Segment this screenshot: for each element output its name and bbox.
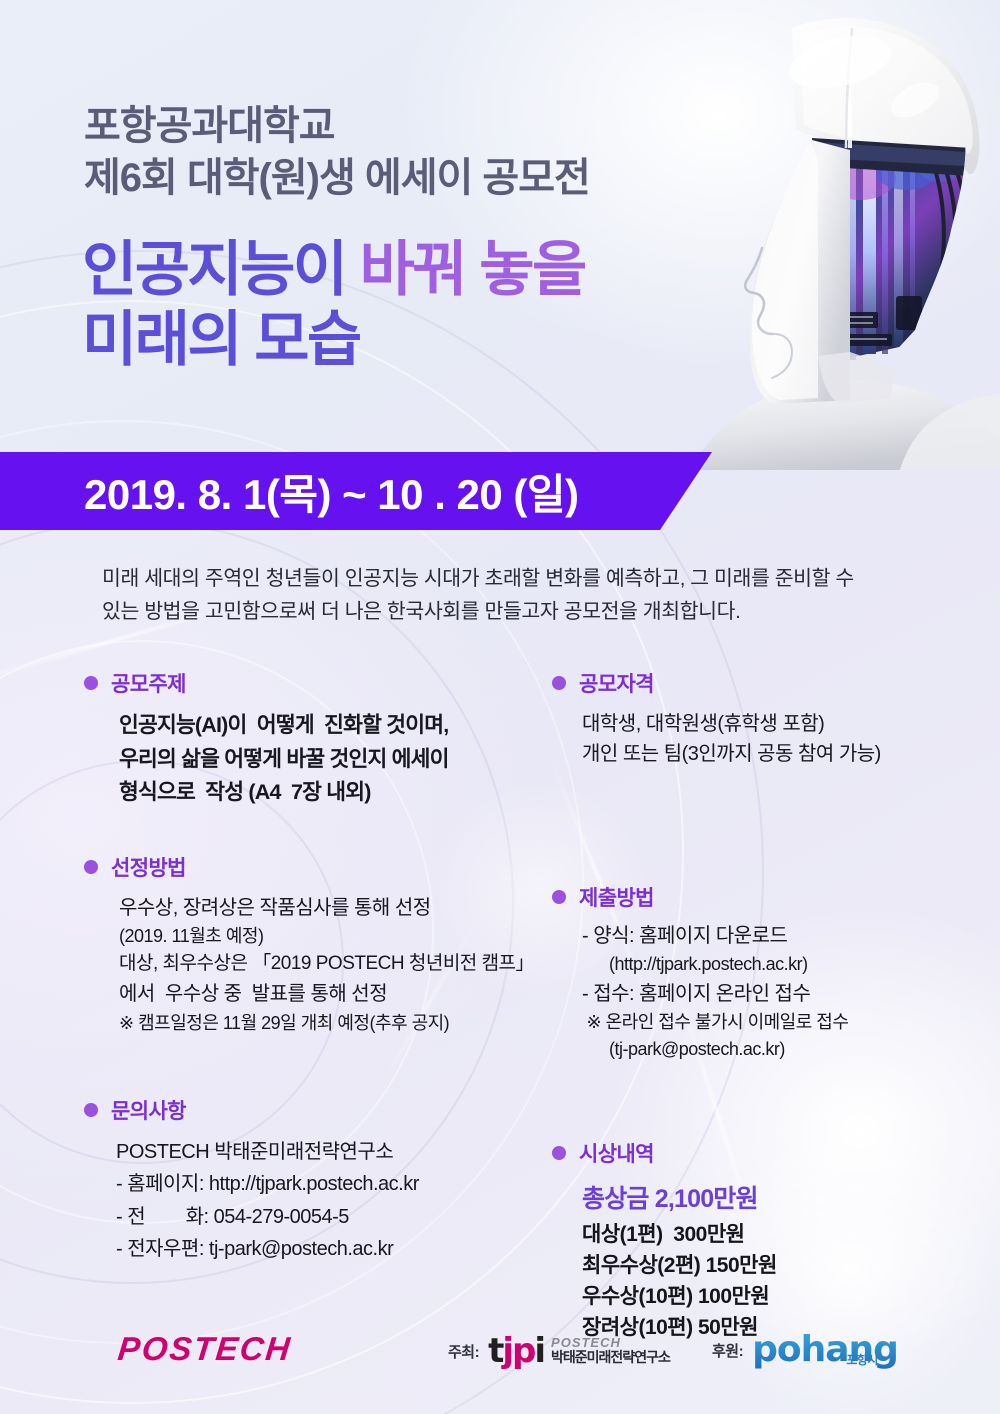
- section-topic-body: 인공지능(AI)이 어떻게 진화할 것이며, 우리의 삶을 어떻게 바꿀 것인지…: [84, 709, 524, 810]
- tjpi-letter-j: j: [502, 1331, 512, 1371]
- tjpi-letter-p: p: [512, 1331, 534, 1371]
- section-topic-header: 공모주제: [84, 668, 524, 698]
- section-inquiry-header: 문의사항: [84, 1095, 524, 1125]
- text-line: POSTECH 박태준미래전략연구소: [116, 1136, 524, 1168]
- section-selection: 선정방법 우수상, 장려상은 작품심사를 통해 선정 (2019. 11월초 예…: [84, 852, 524, 1037]
- section-prizes-heading: 시상내역: [579, 1138, 654, 1168]
- bullet-dot-icon: [84, 676, 98, 690]
- text-line: 대상, 최우수상은 「2019 POSTECH 청년비전 캠프」: [119, 950, 524, 979]
- section-prizes-header: 시상내역: [552, 1138, 982, 1168]
- section-inquiry: 문의사항 POSTECH 박태준미래전략연구소 - 홈페이지: http://t…: [84, 1095, 524, 1266]
- section-selection-heading: 선정방법: [111, 852, 186, 882]
- prize-row: 대상(1편) 300만원: [582, 1219, 982, 1250]
- prize-row: 최우수상(2편) 150만원: [582, 1250, 982, 1281]
- text-line: 에서 우수상 중 발표를 통해 선정: [119, 979, 524, 1009]
- tjpi-letter-i: i: [534, 1331, 544, 1371]
- tjpi-logo: tjpi POSTECH 박태준미래전략연구소: [488, 1334, 670, 1368]
- text-line: 형식으로 작성 (A4 7장 내외): [119, 776, 524, 810]
- section-inquiry-heading: 문의사항: [111, 1095, 186, 1125]
- pohang-logo: pohang 포항시: [752, 1332, 898, 1368]
- section-submission-body: - 양식: 홈페이지 다운로드 (http://tjpark.postech.a…: [552, 921, 982, 1064]
- section-submission: 제출방법 - 양식: 홈페이지 다운로드 (http://tjpark.post…: [552, 882, 982, 1064]
- contact-homepage[interactable]: - 홈페이지: http://tjpark.postech.ac.kr: [116, 1168, 524, 1200]
- text-line: (2019. 11월초 예정): [119, 923, 524, 950]
- main-title-line1-accent: 바꿔 놓을: [360, 236, 585, 303]
- host-group: 주최: tjpi POSTECH 박태준미래전략연구소: [448, 1334, 670, 1368]
- section-selection-body: 우수상, 장려상은 작품심사를 통해 선정 (2019. 11월초 예정) 대상…: [84, 893, 524, 1037]
- contact-email[interactable]: - 전자우편: tj-park@postech.ac.kr: [116, 1233, 524, 1265]
- text-line: ※ 온라인 접수 불가시 이메일로 접수: [582, 1009, 982, 1036]
- text-line: - 양식: 홈페이지 다운로드: [582, 921, 982, 951]
- date-banner-text: 2019. 8. 1(목) ~ 10 . 20 (일): [84, 461, 579, 522]
- poster-canvas: 포항공과대학교 제6회 대학(원)생 에세이 공모전 인공지능이 바꿔 놓을 미…: [0, 0, 1000, 1414]
- tjpi-word-kr: 박태준미래전략연구소: [551, 1350, 670, 1366]
- text-line: 우리의 삶을 어떻게 바꿀 것인지 에세이: [119, 743, 524, 777]
- intro-paragraph: 미래 세대의 주역인 청년들이 인공지능 시대가 초래할 변화를 예측하고, 그…: [102, 562, 942, 628]
- bullet-dot-icon: [552, 676, 566, 690]
- bullet-dot-icon: [552, 890, 566, 904]
- main-title-line1: 인공지능이 바꿔 놓을: [82, 235, 742, 305]
- sponsor-group: 후원: pohang 포항시: [712, 1332, 898, 1368]
- text-line: 우수상, 장려상은 작품심사를 통해 선정: [119, 893, 524, 923]
- text-line: - 접수: 홈페이지 온라인 접수: [582, 979, 982, 1009]
- tjpi-words: POSTECH 박태준미래전략연구소: [551, 1336, 670, 1366]
- section-topic: 공모주제 인공지능(AI)이 어떻게 진화할 것이며, 우리의 삶을 어떻게 바…: [84, 668, 524, 810]
- left-column: 공모주제 인공지능(AI)이 어떻게 진화할 것이며, 우리의 삶을 어떻게 바…: [84, 668, 524, 1270]
- text-line: ※ 캠프일정은 11월 29일 개최 예정(추후 공지): [119, 1010, 524, 1037]
- pohang-city-label: 포항시: [846, 1354, 878, 1366]
- section-submission-heading: 제출방법: [579, 882, 654, 912]
- bullet-dot-icon: [552, 1146, 566, 1160]
- tjpi-letter-t: t: [488, 1331, 502, 1371]
- section-eligibility-body: 대학생, 대학원생(휴학생 포함) 개인 또는 팀(3인까지 공동 참여 가능): [552, 709, 982, 770]
- bullet-dot-icon: [84, 860, 98, 874]
- text-line: 대학생, 대학원생(휴학생 포함): [582, 709, 982, 739]
- main-title: 인공지능이 바꿔 놓을 미래의 모습: [82, 235, 742, 375]
- host-label: 주최:: [448, 1341, 479, 1362]
- section-selection-header: 선정방법: [84, 852, 524, 882]
- main-title-line1-main: 인공지능이: [82, 236, 360, 303]
- section-topic-heading: 공모주제: [111, 668, 186, 698]
- page-title: 포항공과대학교 제6회 대학(원)생 에세이 공모전: [84, 100, 724, 204]
- tjpi-wordmark: tjpi: [488, 1334, 544, 1368]
- text-line: 개인 또는 팀(3인까지 공동 참여 가능): [582, 739, 982, 769]
- sponsor-label: 후원:: [712, 1340, 743, 1361]
- section-eligibility-header: 공모자격: [552, 668, 982, 698]
- bullet-dot-icon: [84, 1103, 98, 1117]
- contact-phone[interactable]: - 전 화: 054-279-0054-5: [116, 1201, 524, 1233]
- tjpi-word-en: POSTECH: [551, 1336, 670, 1351]
- submission-form-url[interactable]: (http://tjpark.postech.ac.kr): [582, 951, 982, 978]
- date-banner: 2019. 8. 1(목) ~ 10 . 20 (일): [0, 452, 712, 530]
- section-eligibility: 공모자격 대학생, 대학원생(휴학생 포함) 개인 또는 팀(3인까지 공동 참…: [552, 668, 982, 770]
- postech-logo: POSTECH: [116, 1330, 294, 1368]
- section-eligibility-heading: 공모자격: [579, 668, 654, 698]
- main-title-line2: 미래의 모습: [82, 305, 742, 375]
- submission-email[interactable]: (tj-park@postech.ac.kr): [582, 1036, 982, 1063]
- prize-total: 총상금 2,100만원: [582, 1179, 982, 1215]
- footer: POSTECH 주최: tjpi POSTECH 박태준미래전략연구소 후원: …: [0, 1306, 1000, 1414]
- section-inquiry-body: POSTECH 박태준미래전략연구소 - 홈페이지: http://tjpark…: [84, 1136, 524, 1266]
- right-column: 공모자격 대학생, 대학원생(휴학생 포함) 개인 또는 팀(3인까지 공동 참…: [552, 668, 982, 1347]
- section-submission-header: 제출방법: [552, 882, 982, 912]
- text-line: 인공지능(AI)이 어떻게 진화할 것이며,: [119, 709, 524, 743]
- robot-head-illustration: [700, 0, 1000, 470]
